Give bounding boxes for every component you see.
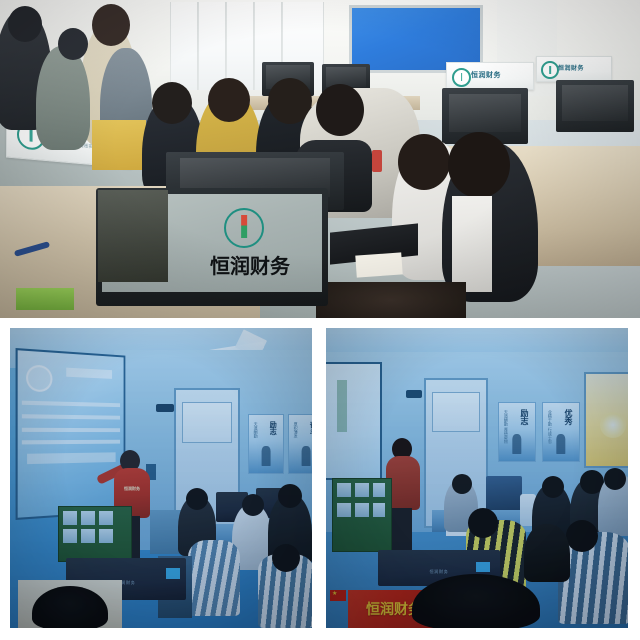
bl-scene: 励志 天道酬勤 奋斗 厚积薄发 恒润财务: [10, 328, 312, 628]
jacket-text: 恒润财务: [124, 486, 140, 492]
monitor-side-photo: [98, 190, 168, 282]
station-sign: 恒润财务: [536, 56, 612, 82]
projected-table-row: [22, 401, 119, 407]
window-pane: [226, 2, 254, 90]
photo-bottom-left-instructor: 励志 天道酬勤 奋斗 厚积薄发 恒润财务: [10, 328, 312, 628]
instructor-head: [316, 84, 364, 136]
student-head: [448, 132, 510, 198]
top-scene: 恒润财务 恒润财务 恒润财务培训中心 专业会计实操 真账实训: [0, 0, 640, 318]
student-head: [208, 78, 250, 122]
poster-body: 天道酬勤: [253, 422, 258, 438]
student-monitor: [486, 476, 522, 510]
photo-bottom-right-students: 励志 天道酬勤 厚德载物 优秀 业精于勤 行成于思: [326, 328, 628, 628]
monitor-bezel-label: 恒润财务: [430, 569, 449, 575]
foreground-head-silhouette: [316, 282, 466, 318]
window-pane: [198, 2, 226, 90]
poster-body: 业精于勤 行成于思: [547, 410, 552, 443]
student-head: [468, 508, 498, 538]
monitor-brand-text: 恒润财务: [210, 250, 290, 279]
poster-title: 奋斗: [308, 421, 312, 435]
student-collar: [452, 196, 492, 292]
projected-table-row: [22, 427, 119, 431]
lanyard-badge: [372, 150, 382, 172]
student-head: [186, 488, 208, 510]
monitor-indicator: [476, 562, 490, 572]
person-head: [58, 28, 88, 60]
poster-title: 励志: [268, 421, 278, 435]
student-head: [272, 544, 300, 572]
projected-logo-icon: [26, 364, 52, 392]
person-head: [8, 6, 42, 42]
student-head: [152, 82, 192, 124]
board-photo: [63, 529, 77, 543]
monitor-indicator: [166, 568, 180, 579]
board-photo: [373, 503, 385, 517]
window-pane: [170, 2, 198, 90]
projected-toolbar: [27, 452, 116, 464]
station-sign-text: 恒润财务: [471, 70, 529, 80]
poster-figure: [512, 434, 521, 454]
brand-logo-icon: [224, 208, 264, 248]
board-photo: [337, 483, 351, 497]
background-monitor: [556, 80, 634, 132]
wall-poster: 优秀 业精于勤 行成于思: [542, 402, 580, 462]
board-photo: [99, 529, 113, 543]
student-head: [604, 468, 626, 490]
projected-title-bar: [67, 368, 112, 379]
poster-title: 励志: [519, 409, 530, 425]
far-wall-display: [352, 8, 480, 70]
student-head: [278, 484, 302, 508]
student-head: [566, 520, 598, 552]
board-photo: [337, 503, 351, 517]
student-head: [452, 474, 472, 494]
national-flag-icon: [330, 590, 346, 601]
board-photo: [81, 511, 95, 525]
instructor-legs: [392, 508, 412, 556]
board-photo: [355, 503, 369, 517]
projector-screen: [326, 362, 382, 480]
board-photo: [81, 529, 95, 543]
br-scene: 励志 天道酬勤 厚德载物 优秀 业精于勤 行成于思: [326, 328, 628, 628]
desk-paper: [16, 288, 74, 310]
wall-poster: 励志 天道酬勤: [248, 414, 284, 474]
window-glare: [600, 412, 626, 438]
wall-poster: 励志 天道酬勤 厚德载物: [498, 402, 536, 462]
board-photo: [373, 483, 385, 497]
projected-text-column: [337, 380, 347, 432]
board-photo: [99, 511, 113, 525]
station-sign: 恒润财务: [446, 62, 534, 90]
person-standing: [36, 46, 90, 150]
photo-collage: 恒润财务 恒润财务 恒润财务培训中心 专业会计实操 真账实训: [0, 0, 640, 640]
person-head: [92, 4, 130, 46]
paper-note: [355, 252, 402, 277]
poster-title: 优秀: [563, 409, 574, 425]
board-photo: [63, 511, 77, 525]
security-camera: [406, 390, 422, 398]
projector-screen: [16, 348, 126, 520]
student-head: [542, 476, 564, 498]
display-board: [58, 506, 132, 562]
person-clothing: [92, 120, 146, 170]
poster-figure: [302, 446, 311, 466]
brand-logo-icon: [541, 61, 559, 79]
board-photo: [355, 483, 369, 497]
brand-logo-icon: [452, 68, 471, 87]
projected-table-row: [22, 440, 119, 445]
student-head: [398, 134, 450, 190]
poster-figure: [556, 434, 565, 454]
poster-figure: [262, 446, 271, 466]
security-camera: [156, 404, 174, 412]
student-seated: [524, 524, 570, 582]
wall-poster: 奋斗 厚积薄发: [288, 414, 312, 474]
display-board: [332, 478, 392, 552]
station-sign-text: 恒润财务: [558, 63, 608, 72]
poster-body: 厚积薄发: [293, 422, 298, 438]
poster-body: 天道酬勤 厚德载物: [503, 410, 508, 443]
projected-table-row: [22, 414, 119, 419]
student-striped-shirt: [188, 540, 240, 616]
photo-top-computer-lab: 恒润财务 恒润财务 恒润财务培训中心 专业会计实操 真账实训: [0, 0, 640, 318]
student-head: [242, 494, 264, 516]
